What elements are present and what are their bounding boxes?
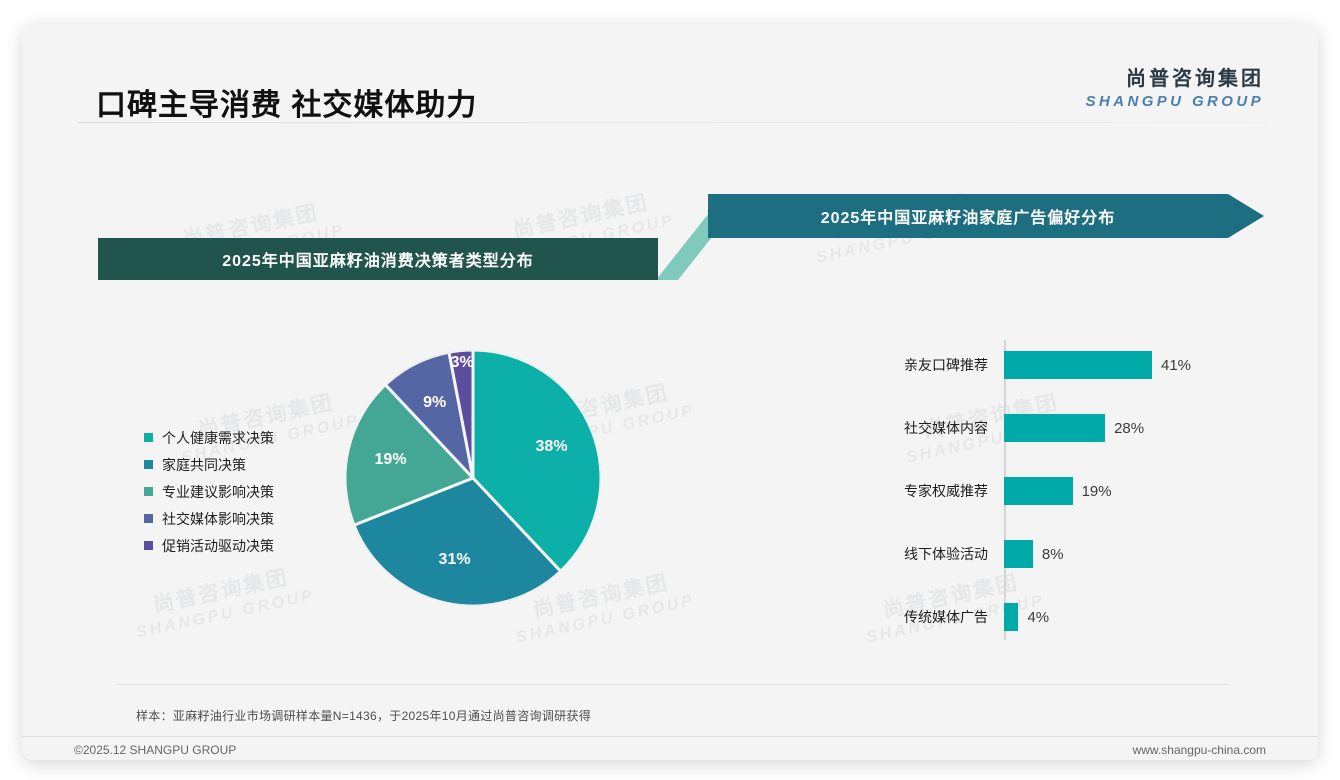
page-title: 口碑主导消费 社交媒体助力 [96, 80, 477, 124]
legend-item-label: 个人健康需求决策 [162, 428, 274, 448]
pie-legend: 个人健康需求决策家庭共同决策专业建议影响决策社交媒体影响决策促销活动驱动决策 [144, 424, 274, 559]
pie-slice-label: 9% [423, 394, 446, 412]
legend-item-label: 专业建议影响决策 [162, 482, 274, 502]
slide-card: 尚普咨询集团SHANGPU GROUP 尚普咨询集团SHANGPU GROUP … [22, 24, 1318, 760]
bar-fill[interactable] [1004, 351, 1152, 379]
pie-chart: 38%31%19%9%3% [345, 350, 601, 606]
sample-footnote: 样本：亚麻籽油行业市场调研样本量N=1436，于2025年10月通过尚普咨询调研… [136, 707, 591, 724]
pie-slice-label: 31% [439, 551, 471, 569]
bar-value-label: 19% [1082, 483, 1112, 500]
chart-title-banner-right: 2025年中国亚麻籽油家庭广告偏好分布 [708, 194, 1264, 238]
bar-category-label: 亲友口碑推荐 [870, 355, 996, 375]
legend-color-swatch [144, 433, 153, 442]
pie-slice-label: 19% [375, 451, 407, 469]
legend-item-label: 社交媒体影响决策 [162, 509, 274, 529]
bar-value-label: 4% [1027, 609, 1049, 626]
legend-item[interactable]: 个人健康需求决策 [144, 424, 274, 451]
bar-chart-row[interactable]: 社交媒体内容28% [870, 413, 1210, 443]
legend-item[interactable]: 家庭共同决策 [144, 451, 274, 478]
legend-color-swatch [144, 514, 153, 523]
legend-color-swatch [144, 487, 153, 496]
watermark: 尚普咨询集团SHANGPU GROUP [129, 561, 317, 644]
pie-slice-label: 3% [451, 354, 474, 372]
bar-category-label: 线下体验活动 [870, 544, 996, 564]
footer-divider [22, 736, 1318, 737]
bar-chart-row[interactable]: 专家权威推荐19% [870, 476, 1210, 506]
legend-color-swatch [144, 460, 153, 469]
legend-item[interactable]: 社交媒体影响决策 [144, 505, 274, 532]
chart-title-banner-left: 2025年中国亚麻籽油消费决策者类型分布 [98, 238, 658, 280]
brand-logo: 尚普咨询集团 SHANGPU GROUP [1086, 62, 1264, 110]
banner-right-label: 2025年中国亚麻籽油家庭广告偏好分布 [708, 204, 1228, 228]
logo-chinese-text: 尚普咨询集团 [1086, 62, 1264, 91]
pie-slice-label: 38% [536, 438, 568, 456]
bar-value-label: 28% [1114, 420, 1144, 437]
banner-left-label: 2025年中国亚麻籽油消费决策者类型分布 [222, 247, 534, 271]
bar-fill[interactable] [1004, 540, 1033, 568]
legend-color-swatch [144, 541, 153, 550]
legend-item-label: 家庭共同决策 [162, 455, 246, 475]
footnote-divider [118, 684, 1228, 685]
header-divider [78, 122, 1268, 123]
bar-chart: 亲友口碑推荐41%社交媒体内容28%专家权威推荐19%线下体验活动8%传统媒体广… [870, 340, 1210, 640]
legend-item[interactable]: 专业建议影响决策 [144, 478, 274, 505]
bar-value-label: 8% [1042, 546, 1064, 563]
bar-chart-row[interactable]: 线下体验活动8% [870, 539, 1210, 569]
bar-fill[interactable] [1004, 603, 1018, 631]
bar-category-label: 专家权威推荐 [870, 481, 996, 501]
footer-copyright: ©2025.12 SHANGPU GROUP [74, 743, 236, 757]
legend-item[interactable]: 促销活动驱动决策 [144, 532, 274, 559]
pie-chart-svg [345, 350, 601, 606]
legend-item-label: 促销活动驱动决策 [162, 536, 274, 556]
footer-website: www.shangpu-china.com [1133, 743, 1266, 757]
slide-header: 口碑主导消费 社交媒体助力 尚普咨询集团 SHANGPU GROUP [22, 24, 1318, 120]
bar-category-label: 社交媒体内容 [870, 418, 996, 438]
bar-fill[interactable] [1004, 477, 1073, 505]
bar-category-label: 传统媒体广告 [870, 607, 996, 627]
bar-chart-row[interactable]: 传统媒体广告4% [870, 602, 1210, 632]
bar-chart-row[interactable]: 亲友口碑推荐41% [870, 350, 1210, 380]
bar-fill[interactable] [1004, 414, 1105, 442]
logo-english-text: SHANGPU GROUP [1086, 93, 1264, 110]
bar-value-label: 41% [1161, 357, 1191, 374]
